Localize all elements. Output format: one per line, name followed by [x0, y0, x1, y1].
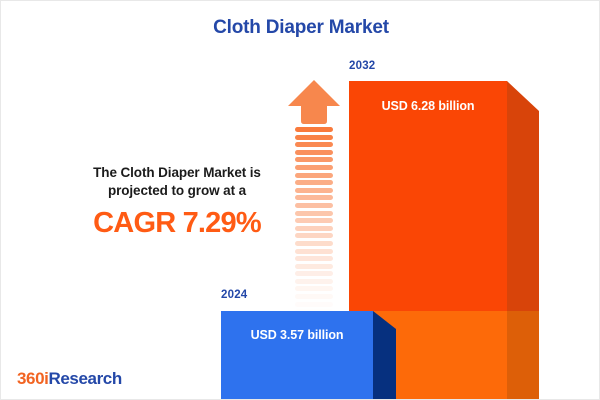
arrow-tail-stripe	[295, 241, 333, 246]
arrow-tail-stripe	[295, 256, 333, 261]
arrow-tail-stripe	[295, 203, 333, 208]
arrow-tail-stripe	[295, 142, 333, 147]
arrow-tail-stripe	[295, 286, 333, 291]
arrow-tail-stripe	[295, 271, 333, 276]
arrow-head-icon	[287, 79, 341, 125]
arrow-tail-stripes	[295, 127, 333, 291]
cagr-statement-line-2: projected to grow at a	[73, 182, 281, 200]
bar-2024	[221, 311, 396, 400]
bar-2032-year-label: 2032	[349, 60, 375, 72]
cagr-statement-text: The Cloth Diaper Market is projected to …	[73, 164, 281, 200]
arrow-tail-stripe	[295, 302, 333, 307]
arrow-tail-stripe	[295, 218, 333, 223]
bar-2032-side-face-lower	[507, 311, 539, 400]
bar-2024-side-face	[373, 311, 396, 400]
brand-logo-suffix: Research	[49, 369, 122, 388]
brand-logo: 360iResearch	[17, 369, 122, 389]
arrow-tail-stripe	[295, 233, 333, 238]
arrow-tail-stripe	[295, 211, 333, 216]
arrow-tail-stripe	[295, 150, 333, 155]
arrow-tail-stripe	[295, 165, 333, 170]
cagr-statement-block: The Cloth Diaper Market is projected to …	[73, 164, 281, 240]
page-title: Cloth Diaper Market	[1, 17, 600, 39]
arrow-tail-stripe	[295, 249, 333, 254]
upward-growth-arrow-icon	[287, 79, 341, 291]
arrow-tail-stripe	[295, 173, 333, 178]
arrow-tail-stripe	[295, 226, 333, 231]
bar-2024-value-label: USD 3.57 billion	[221, 328, 373, 342]
brand-logo-prefix: 360i	[17, 369, 49, 388]
arrow-tail-stripe	[295, 135, 333, 140]
arrow-tail-stripe	[295, 264, 333, 269]
arrow-tail-stripe	[295, 188, 333, 193]
bar-2024-front-face	[221, 311, 373, 400]
cagr-statement-line-1: The Cloth Diaper Market is	[73, 164, 281, 182]
arrow-tail-stripe	[295, 157, 333, 162]
arrow-tail-stripe	[295, 195, 333, 200]
arrow-tail-stripe	[295, 279, 333, 284]
bar-2024-year-label: 2024	[221, 289, 247, 301]
arrow-tail-stripe	[295, 294, 333, 299]
cagr-value: CAGR 7.29%	[73, 207, 281, 240]
bar-2032-value-label: USD 6.28 billion	[349, 99, 507, 113]
infographic-canvas: Cloth Diaper Market The Cloth Diaper Mar…	[0, 0, 600, 400]
arrow-tail-stripe	[295, 180, 333, 185]
arrow-tail-stripe	[295, 127, 333, 132]
